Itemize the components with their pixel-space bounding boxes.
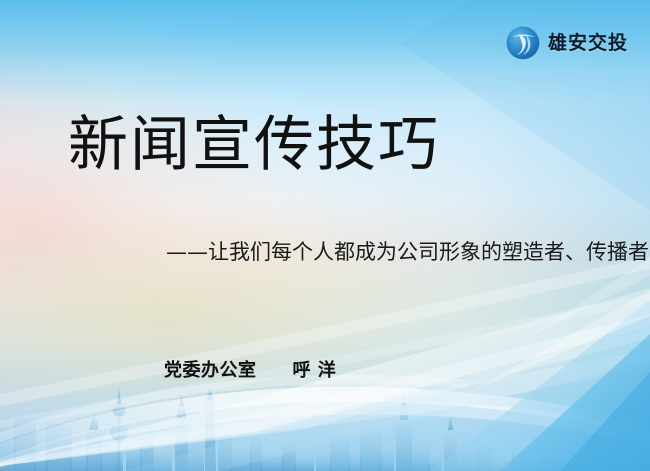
- xiongan-globe-logo-icon: [506, 26, 540, 60]
- skyline-right: [316, 388, 650, 471]
- background-warm-glow: [0, 0, 650, 471]
- background-top-blue-band: [0, 0, 650, 120]
- title-slide: 雄安交投 新闻宣传技巧 ——让我们每个人都成为公司形象的塑造者、传播者 党委办公…: [0, 0, 650, 471]
- background-base-gradient: [0, 0, 650, 471]
- presenter-department: 党委办公室: [164, 356, 257, 382]
- background-artwork: [0, 0, 650, 471]
- subtitle: ——让我们每个人都成为公司形象的塑造者、传播者: [166, 240, 649, 265]
- brand-name: 雄安交投: [548, 34, 628, 53]
- skyline-left: [0, 386, 314, 471]
- background-bottom-blue-haze: [0, 0, 650, 471]
- presenter-line: 党委办公室 呼 洋: [164, 356, 336, 382]
- background-horizontal-wash: [0, 0, 650, 471]
- highlight-streaks: [0, 250, 650, 432]
- presenter-name: 呼 洋: [293, 356, 337, 382]
- background-pink-glow: [0, 0, 650, 471]
- accent-wedges-right: [430, 258, 650, 471]
- ribbon-arcs: [0, 375, 650, 471]
- page-title: 新闻宣传技巧: [68, 112, 440, 178]
- presenter-separator: [257, 356, 293, 382]
- brand-logo: 雄安交投: [506, 26, 628, 60]
